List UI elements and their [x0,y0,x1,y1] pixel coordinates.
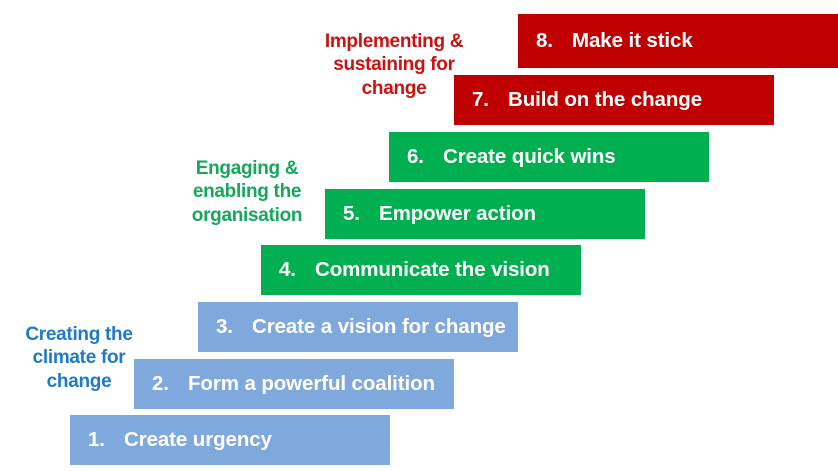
step-label: Create quick wins [433,145,616,169]
phase-label-text: Creating the climate for change [25,324,132,392]
phase-label-text: Engaging & enabling the organisation [192,158,302,226]
step-number: 1. [70,428,114,452]
step-label: Build on the change [498,88,702,112]
step-bar-1[interactable]: 1. Create urgency [70,415,390,465]
step-label: Form a powerful coalition [178,372,435,396]
step-number: 6. [389,145,433,169]
step-number: 5. [325,202,369,226]
phase-label-engaging-and-enabling-the-organisation: Engaging & enabling the organisation [172,133,322,227]
phase-label-creating-the-climate-for-change: Creating the climate for change [4,299,154,393]
step-number: 2. [134,372,178,396]
step-number: 4. [261,258,305,282]
step-bar-3[interactable]: 3. Create a vision for change [198,302,518,352]
step-bar-5[interactable]: 5. Empower action [325,189,645,239]
step-bar-7[interactable]: 7. Build on the change [454,75,774,125]
step-bar-4[interactable]: 4. Communicate the vision [261,245,581,295]
step-label: Create urgency [114,428,272,452]
phase-label-text: Implementing & sustaining for change [325,31,463,99]
step-number: 7. [454,88,498,112]
change-model-diagram: Creating the climate for change Engaging… [0,0,838,471]
step-number: 8. [518,29,562,53]
step-label: Empower action [369,202,536,226]
step-bar-2[interactable]: 2. Form a powerful coalition [134,359,454,409]
step-label: Make it stick [562,29,693,53]
step-bar-6[interactable]: 6. Create quick wins [389,132,709,182]
step-label: Communicate the vision [305,258,550,282]
step-number: 3. [198,315,242,339]
step-bar-8[interactable]: 8. Make it stick [518,14,838,68]
step-label: Create a vision for change [242,315,506,339]
